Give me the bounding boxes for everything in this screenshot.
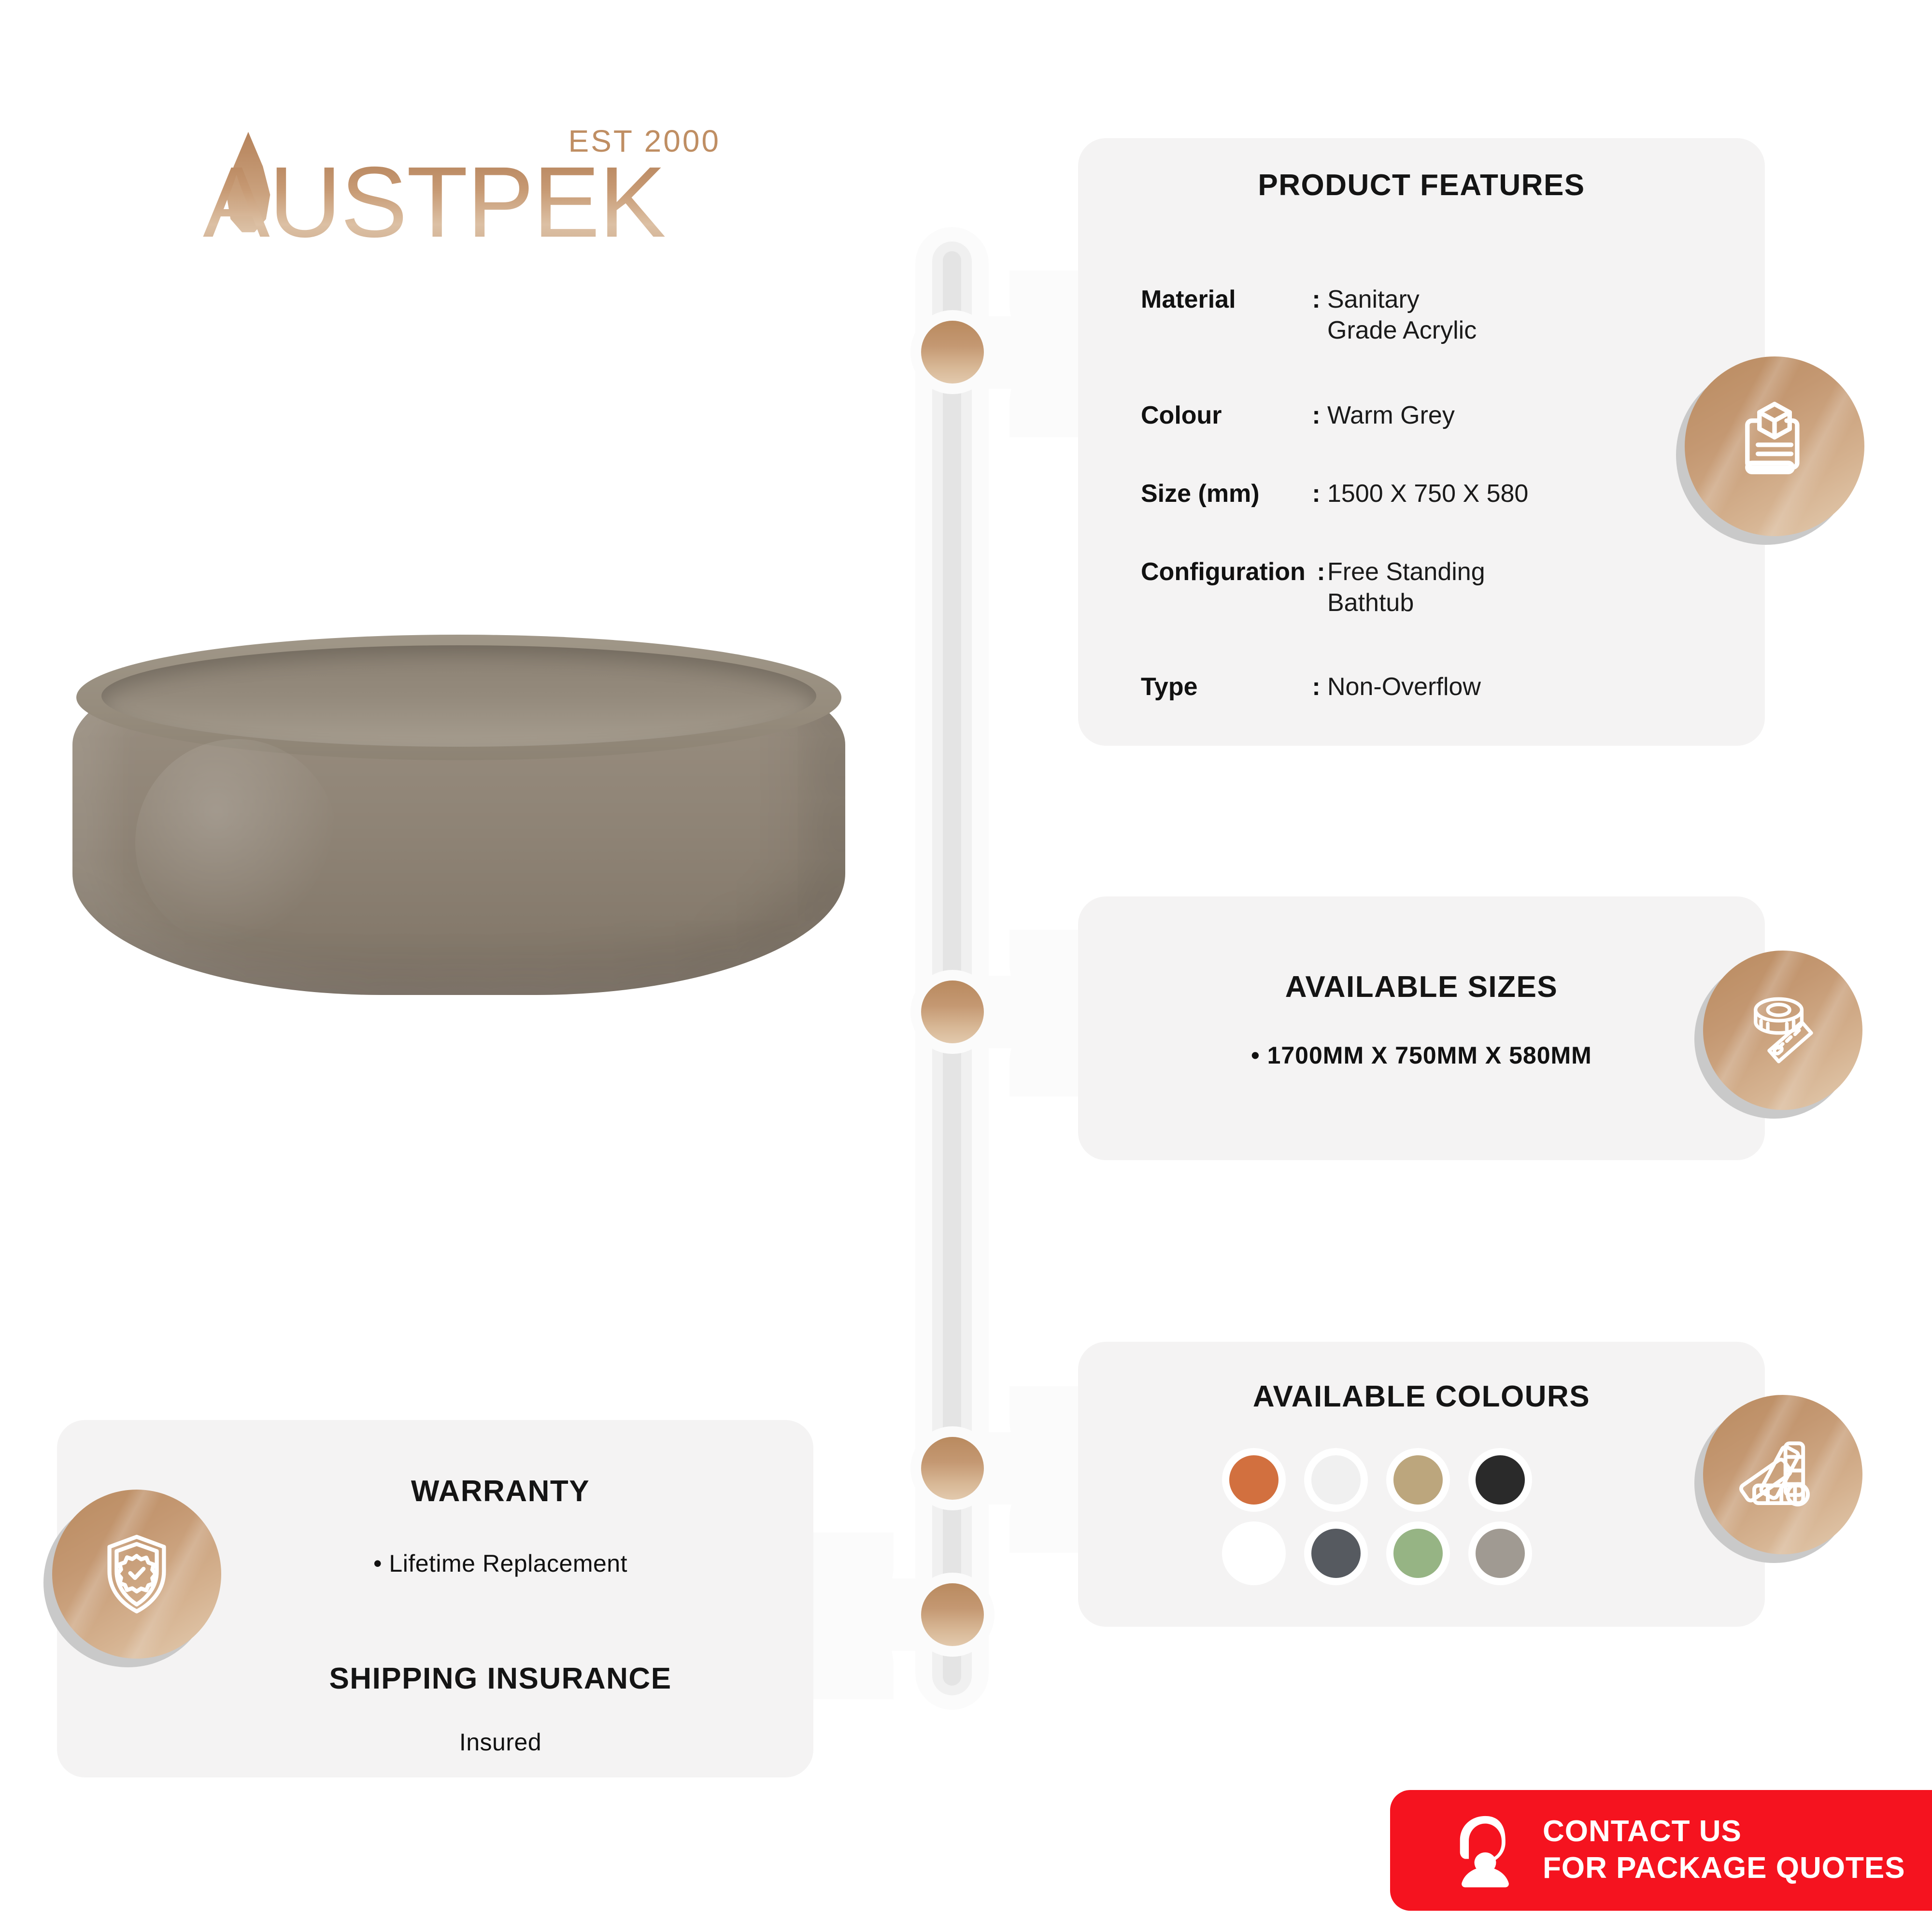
contact-us-banner[interactable]: CONTACT US FOR PACKAGE QUOTES [1390,1790,1932,1911]
icon-bubble-colours [1703,1395,1862,1554]
brand-wordmark: AUSTPEK [203,152,665,253]
colour-swatch-white[interactable] [1223,1522,1285,1584]
warranty-title: WARRANTY [187,1474,813,1508]
warranty-item: • Lifetime Replacement [187,1549,813,1577]
node-dot [921,1583,984,1646]
spec-value: Free Standing Bathtub [1327,556,1485,619]
card-available-colours: AVAILABLE COLOURS [1078,1342,1765,1627]
sizes-item: • 1700MM X 750MM X 580MM [1078,1041,1765,1069]
colour-swatch-terracotta[interactable] [1223,1449,1285,1511]
spec-row-type: Type : Non-Overflow [1141,671,1720,702]
colour-swatch-matte-black[interactable] [1469,1449,1531,1511]
timeline-node-features[interactable] [910,310,994,394]
spec-label: Size (mm) [1141,478,1305,509]
colour-swatch-grid [1223,1449,1531,1584]
colour-swatch-slate-grey[interactable] [1305,1522,1367,1584]
support-headset-icon [1444,1812,1526,1890]
node-dot [921,980,984,1043]
shipping-insurance-title: SHIPPING INSURANCE [187,1662,813,1696]
spec-value: 1500 X 750 X 580 [1327,478,1528,509]
measuring-tape-icon [1703,951,1862,1110]
spec-row-material: Material : Sanitary Grade Acrylic [1141,284,1720,346]
spec-value: Non-Overflow [1327,671,1481,702]
spec-row-configuration: Configuration : Free Standing Bathtub [1141,556,1740,619]
sizes-title: AVAILABLE SIZES [1078,970,1765,1004]
product-spec-sheet-icon [1685,356,1864,536]
spec-separator: : [1315,556,1327,587]
timeline-node-warranty[interactable] [910,1573,994,1657]
brand-logo: EST 2000 AUSTPEK [203,123,724,263]
spec-separator: : [1305,284,1327,315]
warranty-shield-icon [52,1490,221,1659]
spec-label: Material [1141,284,1305,315]
contact-line-2: FOR PACKAGE QUOTES [1543,1850,1905,1887]
node-dot [921,321,984,384]
spec-value: Warm Grey [1327,400,1455,431]
tub-rim-inner [101,645,816,747]
colours-title: AVAILABLE COLOURS [1078,1379,1765,1414]
node-dot [921,1437,984,1500]
shipping-insurance-value: Insured [187,1728,813,1756]
spec-label: Configuration [1141,556,1315,587]
timeline-node-colours[interactable] [910,1426,994,1510]
icon-bubble-features [1685,356,1864,536]
spec-value: Sanitary Grade Acrylic [1327,284,1477,346]
card-product-features: PRODUCT FEATURES Material : Sanitary Gra… [1078,138,1765,746]
icon-bubble-sizes [1703,951,1862,1110]
colour-swatch-warm-grey[interactable] [1469,1522,1531,1584]
features-title: PRODUCT FEATURES [1078,168,1765,202]
colour-swatch-fan-icon [1703,1395,1862,1554]
spec-separator: : [1305,671,1327,702]
spec-separator: : [1305,400,1327,431]
contact-line-1: CONTACT US [1543,1813,1905,1850]
tub-highlight [135,739,338,947]
contact-banner-text: CONTACT US FOR PACKAGE QUOTES [1543,1813,1905,1886]
colour-swatch-khaki-tan[interactable] [1387,1449,1449,1511]
spec-separator: : [1305,478,1327,509]
spec-label: Colour [1141,400,1305,431]
colour-swatch-sage-green[interactable] [1387,1522,1449,1584]
card-available-sizes: AVAILABLE SIZES • 1700MM X 750MM X 580MM [1078,896,1765,1160]
product-image-bathtub [72,638,845,995]
spec-label: Type [1141,671,1305,702]
icon-bubble-warranty [52,1490,221,1659]
spec-row-colour: Colour : Warm Grey [1141,400,1720,431]
spec-row-size: Size (mm) : 1500 X 750 X 580 [1141,478,1720,509]
timeline-node-sizes[interactable] [910,970,994,1054]
colour-swatch-off-white[interactable] [1305,1449,1367,1511]
